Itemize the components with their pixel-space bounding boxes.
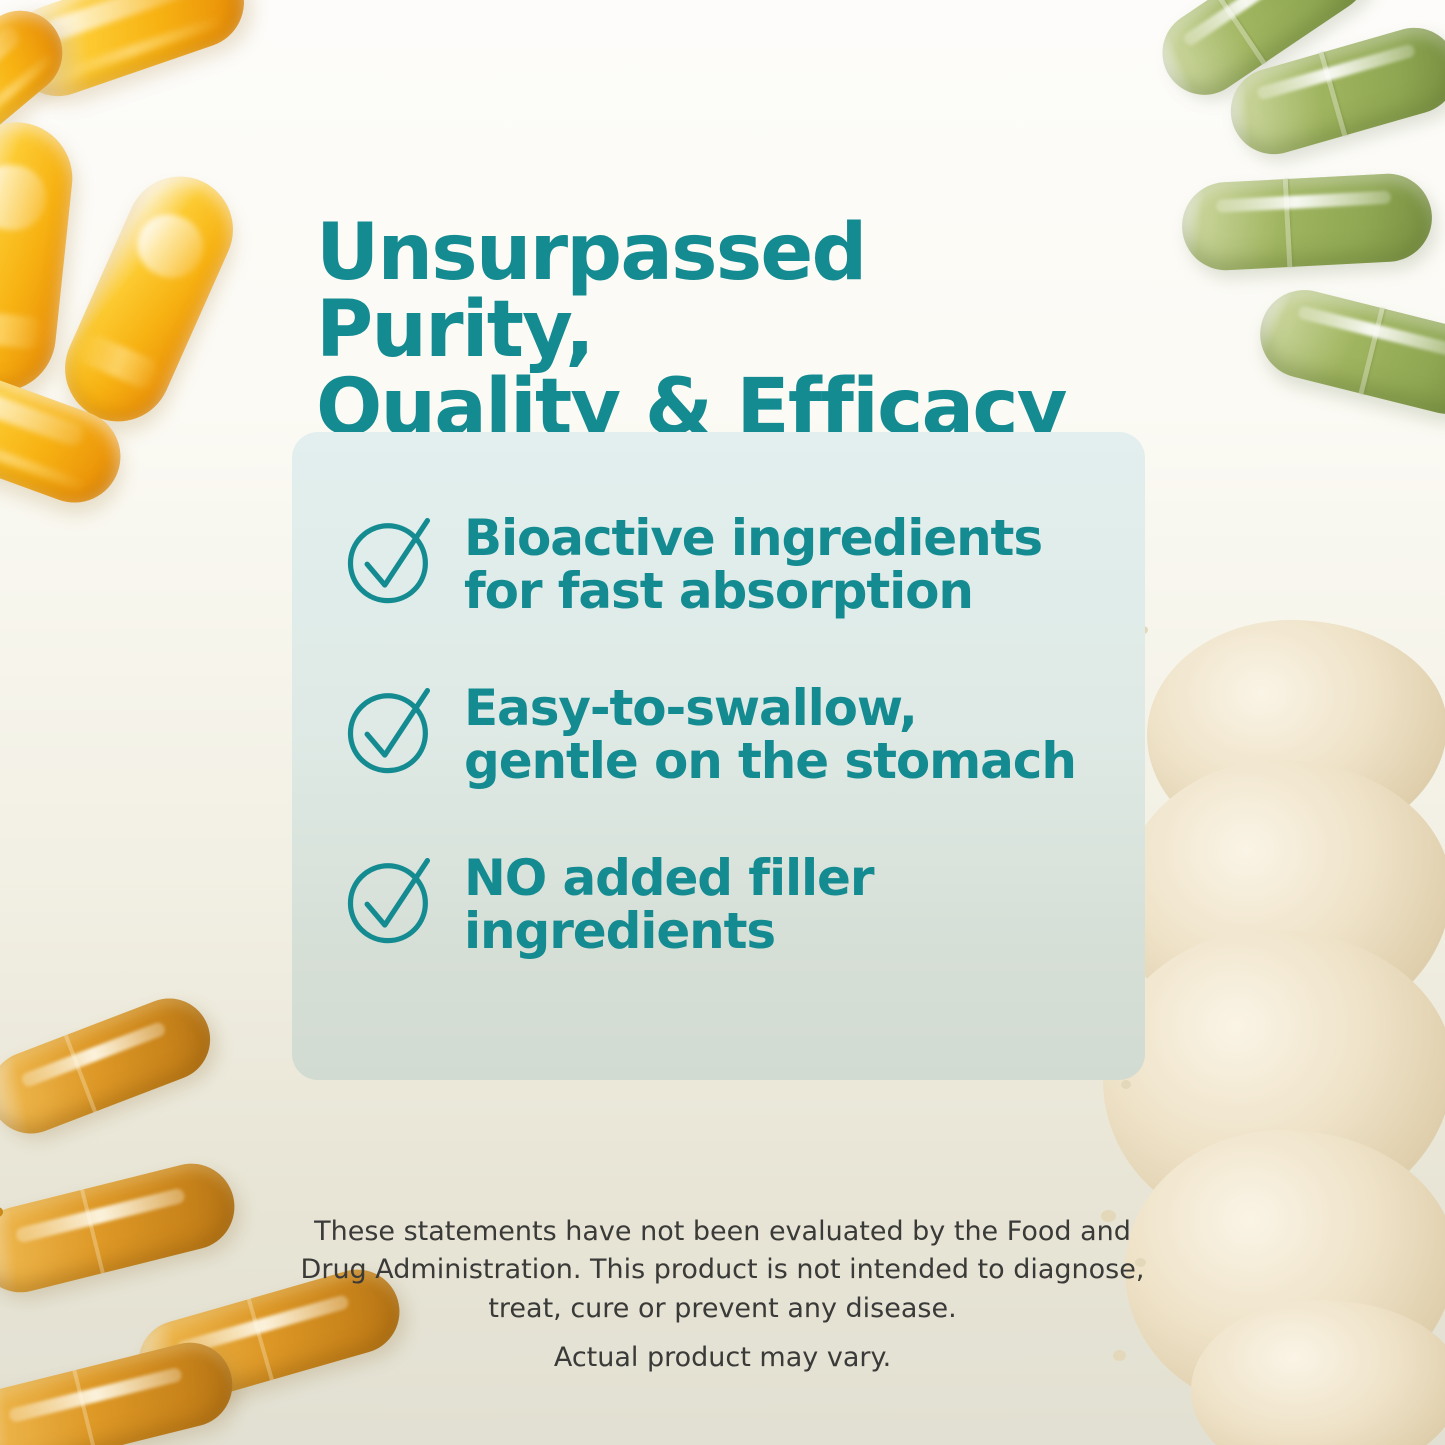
promo-image-root: Unsurpassed Purity, Quality & Efficacy B…: [0, 0, 1445, 1445]
benefit-item-bioactive: Bioactive ingredients for fast absorptio…: [338, 510, 1099, 618]
check-circle-icon: [338, 846, 442, 950]
benefit-item-no-fillers: NO added filler ingredients: [338, 850, 1099, 958]
green-powder-capsules-image: [1140, 0, 1445, 480]
actual-product-note: Actual product may vary.: [300, 1342, 1145, 1373]
cream-protein-powder-image: [1095, 610, 1445, 1410]
fda-disclaimer: These statements have not been evaluated…: [300, 1213, 1145, 1328]
check-circle-icon: [338, 676, 442, 780]
check-circle-icon: [338, 506, 442, 610]
benefit-label: Bioactive ingredients for fast absorptio…: [464, 510, 1042, 618]
benefit-label: NO added filler ingredients: [464, 850, 873, 958]
benefit-label: Easy-to-swallow, gentle on the stomach: [464, 680, 1076, 788]
benefit-item-easy-swallow: Easy-to-swallow, gentle on the stomach: [338, 680, 1099, 788]
benefits-card: Bioactive ingredients for fast absorptio…: [292, 432, 1145, 1080]
page-title: Unsurpassed Purity, Quality & Efficacy: [316, 215, 1156, 447]
golden-softgel-capsules-image: [0, 0, 290, 610]
